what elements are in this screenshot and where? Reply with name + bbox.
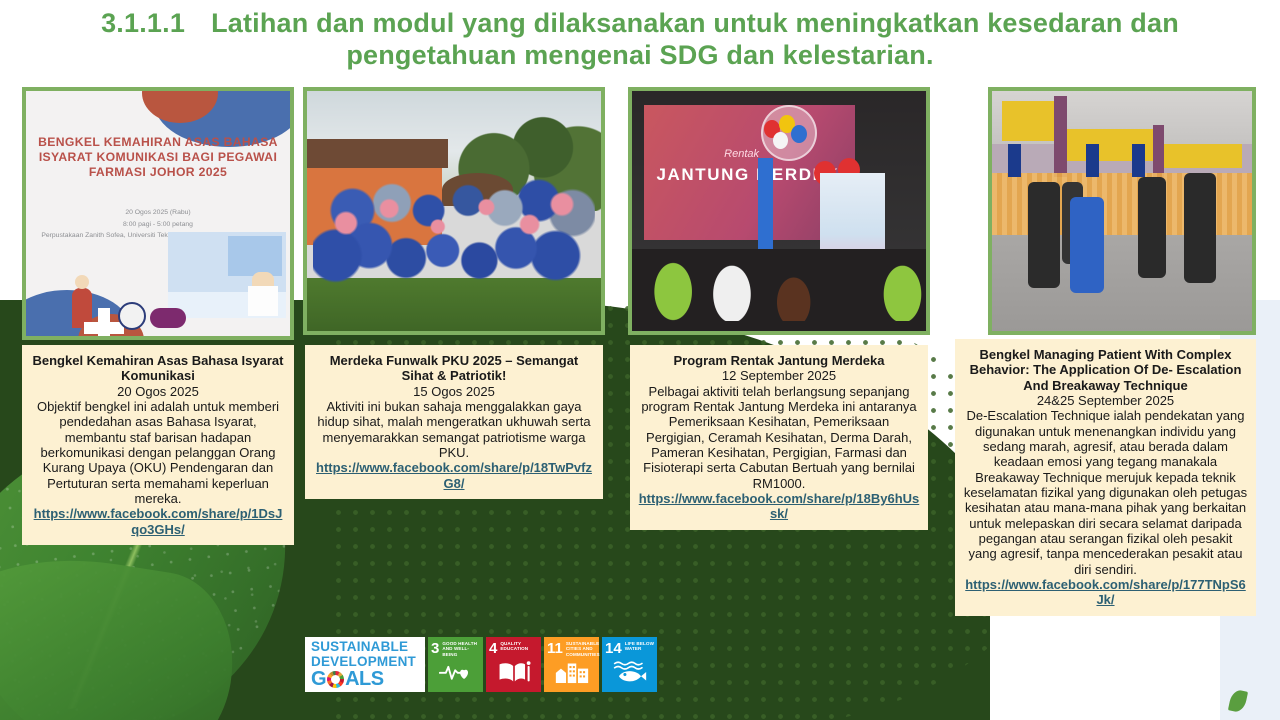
- poster-pharmacist-figure: [252, 272, 274, 316]
- poster-government-crest-logo: [118, 302, 146, 330]
- caption-body: Aktiviti ini bukan sahaja menggalakkan g…: [313, 399, 595, 460]
- yellow-wall-panel-1: [1002, 101, 1054, 142]
- participant-figure-blue: [1070, 197, 1104, 293]
- sdg-goal-4-number: 4: [489, 641, 497, 656]
- jantung-merdeka-scene: Rentak JANTUNG MERDEKA: [632, 91, 926, 331]
- photo-merdeka-funwalk-group[interactable]: [303, 87, 605, 335]
- caption-date: 12 September 2025: [638, 368, 920, 383]
- open-book-icon: [489, 656, 538, 688]
- malaysian-flags: [319, 187, 589, 259]
- sdg-goal-11-head: 11 Sustainable Cities and Communities: [547, 641, 596, 657]
- cityscape-icon: [547, 657, 596, 688]
- malaysian-flag-3: [1132, 144, 1145, 178]
- balloon-white: [773, 132, 788, 149]
- sdg-goal-11-number: 11: [547, 641, 563, 656]
- sdg-goal-11-label: Sustainable Cities and Communities: [566, 641, 600, 657]
- sdg-logo-line-3: G ALS: [311, 669, 425, 689]
- caption-facebook-link[interactable]: https://www.facebook.com/share/p/1DsJqo3…: [30, 506, 286, 537]
- photo-poster-bengkel-bahasa-isyarat[interactable]: BENGKEL KEMAHIRAN ASAS BAHASA ISYARAT KO…: [22, 87, 294, 340]
- caption-facebook-link[interactable]: https://www.facebook.com/share/p/177TNpS…: [963, 577, 1248, 608]
- sdg-logo-strip: SUSTAINABLE DEVELOPMENT G ALS 3 Good Hea…: [305, 637, 657, 692]
- slide-title-text: Latihan dan modul yang dilaksanakan untu…: [211, 8, 1179, 70]
- sdg-goal-14-tile[interactable]: 14 Life Below Water: [602, 637, 657, 692]
- sdg-logo-als: ALS: [345, 669, 384, 689]
- slide-title-number: 3.1.1.1: [101, 8, 185, 38]
- slide-title: 3.1.1.1Latihan dan modul yang dilaksanak…: [0, 8, 1280, 72]
- sdg-goal-14-head: 14 Life Below Water: [605, 641, 654, 656]
- caption-card-rentak-jantung-merdeka: Program Rentak Jantung Merdeka 12 Septem…: [630, 345, 928, 530]
- backdrop-script-text: Rentak: [724, 148, 759, 160]
- caption-date: 24&25 September 2025: [963, 393, 1248, 408]
- poster-shelf: [228, 236, 282, 276]
- sdg-colour-wheel-icon: [327, 671, 344, 688]
- sustainable-development-goals-logo: SUSTAINABLE DEVELOPMENT G ALS: [305, 637, 425, 692]
- caption-date: 15 Ogos 2025: [313, 384, 595, 399]
- sdg-logo-line-1: SUSTAINABLE: [311, 640, 425, 655]
- poster-secondary-logo: [150, 308, 186, 328]
- sdg-goal-4-head: 4 Quality Education: [489, 641, 538, 656]
- sdg-goal-3-tile[interactable]: 3 Good Health and Well-Being: [428, 637, 483, 692]
- photo-breakaway-technique[interactable]: [988, 87, 1256, 335]
- sdg-logo-g: G: [311, 669, 326, 689]
- officials-group: [632, 187, 926, 321]
- trainer-figure: [1028, 182, 1059, 288]
- caption-body: Pelbagai aktiviti telah berlangsung sepa…: [638, 384, 920, 491]
- observer-figure-2: [1184, 173, 1215, 283]
- sdg-goal-3-head: 3 Good Health and Well-Being: [431, 641, 480, 657]
- heartbeat-icon: [431, 657, 480, 688]
- caption-facebook-link[interactable]: https://www.facebook.com/share/p/18By6hU…: [638, 491, 920, 522]
- poster-date: 20 Ogos 2025 (Rabu): [36, 207, 280, 219]
- caption-title: Bengkel Managing Patient With Complex Be…: [963, 347, 1248, 393]
- caption-title: Bengkel Kemahiran Asas Bahasa Isyarat Ko…: [30, 353, 286, 384]
- photo-rentak-jantung-merdeka[interactable]: Rentak JANTUNG MERDEKA: [628, 87, 930, 335]
- caption-card-breakaway-technique: Bengkel Managing Patient With Complex Be…: [955, 339, 1256, 616]
- caption-title: Merdeka Funwalk PKU 2025 – Semangat Siha…: [313, 353, 595, 384]
- purple-column-1: [1054, 96, 1067, 178]
- observer-figure-1: [1138, 177, 1167, 278]
- caption-card-bengkel-bahasa-isyarat: Bengkel Kemahiran Asas Bahasa Isyarat Ko…: [22, 345, 294, 545]
- sdg-goal-11-tile[interactable]: 11 Sustainable Cities and Communities: [544, 637, 599, 692]
- sdg-logo-line-2: DEVELOPMENT: [311, 655, 425, 670]
- poster-title: BENGKEL KEMAHIRAN ASAS BAHASA ISYARAT KO…: [34, 135, 282, 180]
- caption-facebook-link[interactable]: https://www.facebook.com/share/p/18TwPvf…: [313, 460, 595, 491]
- fish-waves-icon: [605, 656, 654, 688]
- sdg-goal-14-label: Life Below Water: [625, 641, 654, 652]
- malaysian-flag-1: [1008, 144, 1021, 178]
- caption-body: De-Escalation Technique ialah pendekatan…: [963, 408, 1248, 577]
- sdg-goal-3-number: 3: [431, 641, 439, 656]
- funwalk-scene: [307, 91, 601, 331]
- sdg-goal-4-tile[interactable]: 4 Quality Education: [486, 637, 541, 692]
- poster-time: 8:00 pagi - 5:00 petang: [36, 219, 280, 231]
- balloon-blue: [791, 125, 807, 143]
- malaysian-flag-2: [1086, 144, 1099, 178]
- sdg-goal-4-label: Quality Education: [500, 641, 538, 652]
- breakaway-training-scene: [992, 91, 1252, 331]
- caption-title: Program Rentak Jantung Merdeka: [638, 353, 920, 368]
- caption-card-merdeka-funwalk: Merdeka Funwalk PKU 2025 – Semangat Siha…: [305, 345, 603, 499]
- poster-medical-cross-icon: [84, 322, 124, 334]
- poster-artwork: BENGKEL KEMAHIRAN ASAS BAHASA ISYARAT KO…: [26, 91, 290, 336]
- sdg-goal-3-label: Good Health and Well-Being: [442, 641, 480, 657]
- caption-body: Objektif bengkel ini adalah untuk member…: [30, 399, 286, 506]
- yellow-wall-panel-3: [1164, 144, 1242, 168]
- building-roof: [307, 139, 448, 168]
- sdg-goal-14-number: 14: [605, 641, 622, 656]
- caption-date: 20 Ogos 2025: [30, 384, 286, 399]
